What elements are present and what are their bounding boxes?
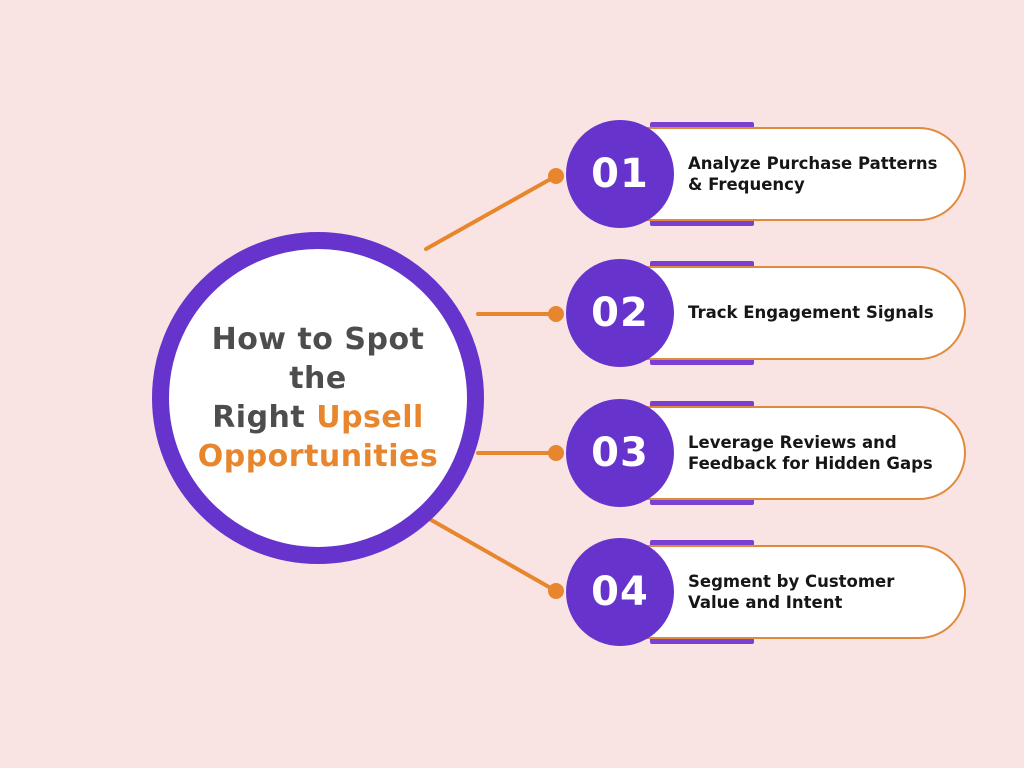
step-number-02: 02	[591, 290, 649, 336]
connector-line-1	[426, 176, 556, 249]
step-number-04: 04	[591, 569, 649, 615]
step-item-01[interactable]: Analyze Purchase Patterns & Frequency 01	[566, 120, 966, 228]
connector-dot-4	[548, 583, 564, 599]
connector-dot-1	[548, 168, 564, 184]
step-item-03[interactable]: Leverage Reviews and Feedback for Hidden…	[566, 399, 966, 507]
central-hub-circle: How to Spot the Right Upsell Opportuniti…	[152, 232, 484, 564]
step-card-02[interactable]: Track Engagement Signals	[642, 266, 966, 360]
step-number-circle-02: 02	[566, 259, 674, 367]
step-label-03: Leverage Reviews and Feedback for Hidden…	[644, 432, 964, 475]
step-label-01: Analyze Purchase Patterns & Frequency	[644, 153, 964, 196]
step-number-circle-04: 04	[566, 538, 674, 646]
step-card-03[interactable]: Leverage Reviews and Feedback for Hidden…	[642, 406, 966, 500]
step-label-04: Segment by Customer Value and Intent	[644, 571, 964, 614]
step-card-04[interactable]: Segment by Customer Value and Intent	[642, 545, 966, 639]
step-number-03: 03	[591, 430, 649, 476]
hub-title-highlight-upsell: Upsell	[316, 400, 424, 435]
step-label-02: Track Engagement Signals	[644, 302, 952, 323]
hub-title-line-1: How to Spot the	[212, 322, 425, 396]
hub-title-line-2-plain: Right	[212, 400, 316, 435]
step-card-01[interactable]: Analyze Purchase Patterns & Frequency	[642, 127, 966, 221]
connector-dot-2	[548, 306, 564, 322]
step-number-circle-03: 03	[566, 399, 674, 507]
step-number-circle-01: 01	[566, 120, 674, 228]
infographic-canvas: How to Spot the Right Upsell Opportuniti…	[0, 0, 1024, 768]
step-item-04[interactable]: Segment by Customer Value and Intent 04	[566, 538, 966, 646]
hub-title: How to Spot the Right Upsell Opportuniti…	[184, 320, 452, 476]
connector-line-4	[426, 517, 556, 591]
hub-title-highlight-opportunities: Opportunities	[198, 439, 439, 474]
step-number-01: 01	[591, 151, 649, 197]
step-item-02[interactable]: Track Engagement Signals 02	[566, 259, 966, 367]
connector-dot-3	[548, 445, 564, 461]
